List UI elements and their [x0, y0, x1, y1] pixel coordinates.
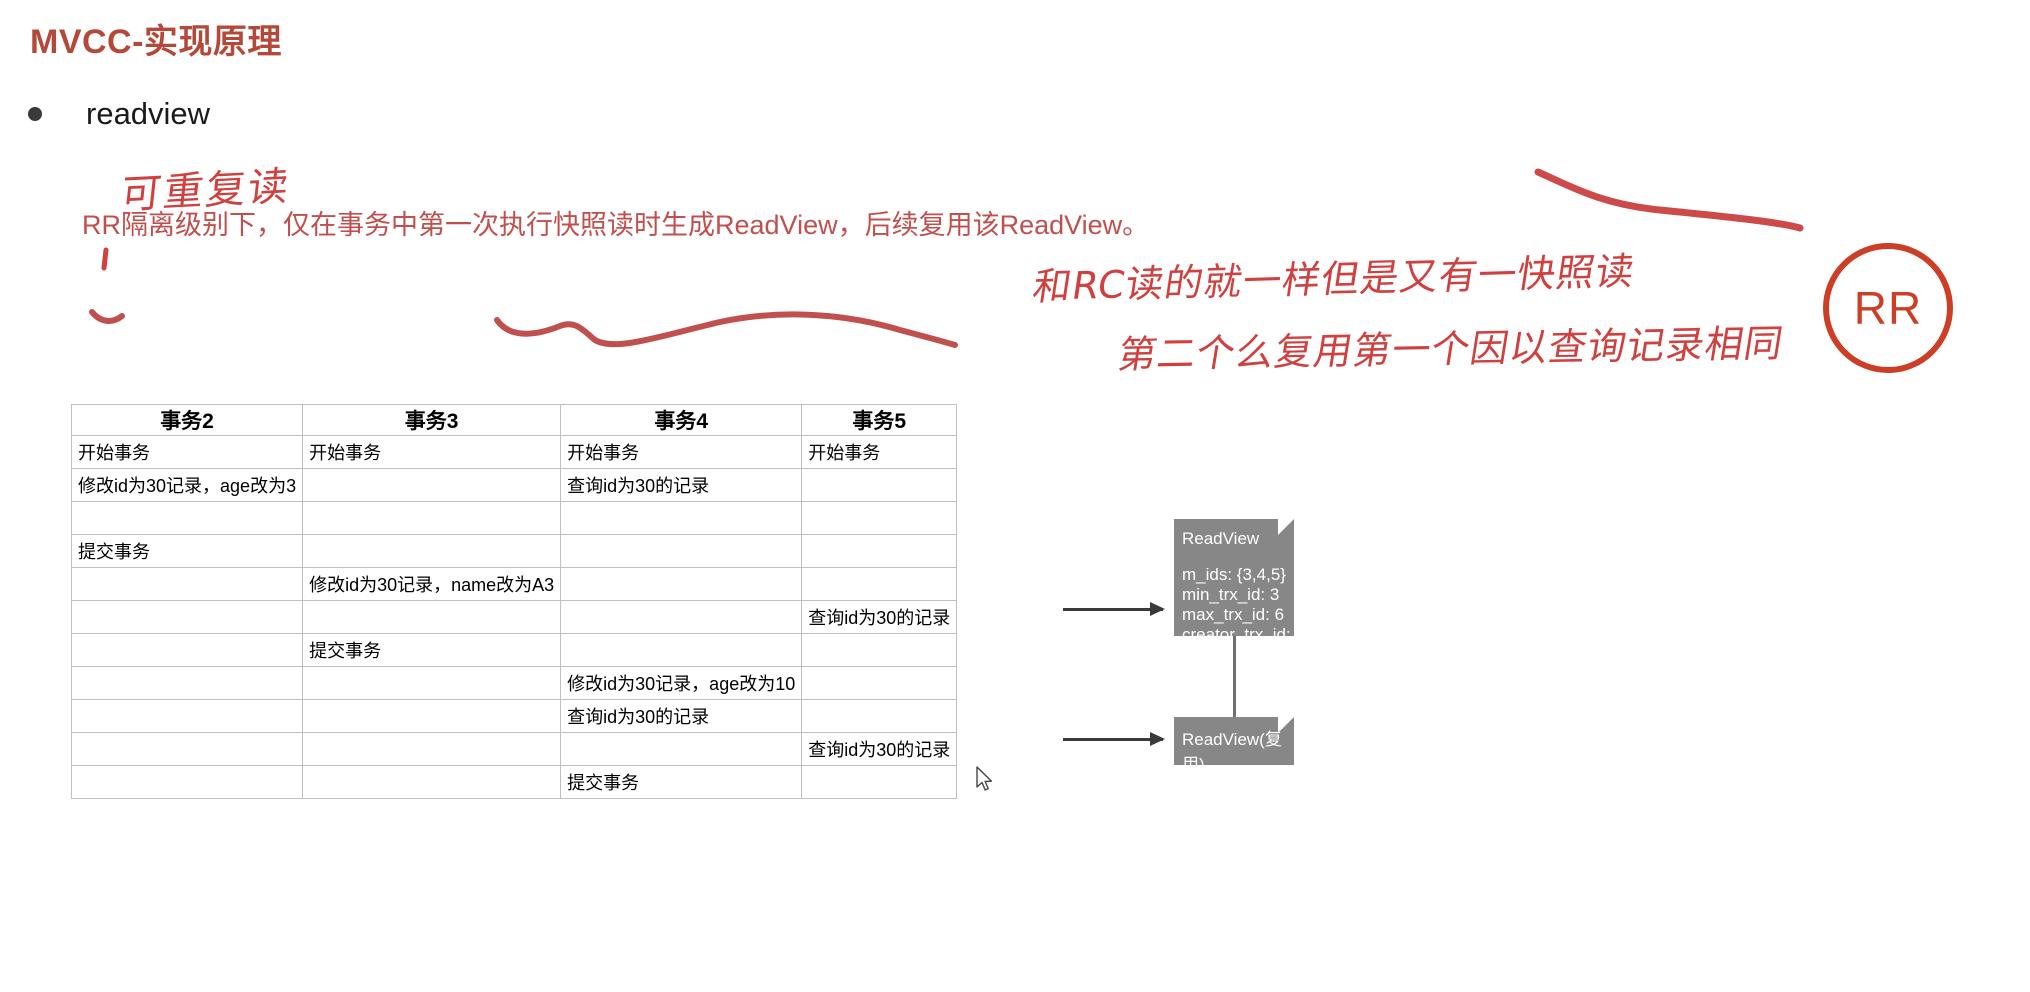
table-row — [72, 502, 957, 535]
table-cell — [72, 700, 303, 733]
table-cell — [303, 733, 561, 766]
table-cell — [802, 568, 957, 601]
table-cell: 提交事务 — [72, 535, 303, 568]
table-row: 查询id为30的记录 — [72, 601, 957, 634]
table-cell — [303, 667, 561, 700]
table-cell — [303, 535, 561, 568]
readview-m-ids: m_ids: {3,4,5} — [1182, 565, 1294, 585]
table-cell — [72, 766, 303, 799]
table-cell — [802, 700, 957, 733]
table-cell: 修改id为30记录，age改为10 — [561, 667, 802, 700]
table-cell — [303, 700, 561, 733]
table-row: 提交事务 — [72, 634, 957, 667]
table-row: 修改id为30记录，name改为A3 — [72, 568, 957, 601]
table-cell: 开始事务 — [72, 436, 303, 469]
table-cell — [303, 601, 561, 634]
rr-stamp-circle: RR — [1823, 243, 1953, 373]
table-row: 开始事务 开始事务 开始事务 开始事务 — [72, 436, 957, 469]
bullet-row: readview — [28, 96, 210, 132]
table-cell — [802, 667, 957, 700]
table-cell — [72, 733, 303, 766]
table-row: 提交事务 — [72, 766, 957, 799]
table-cell — [561, 634, 802, 667]
rr-stamp-label: RR — [1854, 281, 1922, 335]
table-header-cell: 事务5 — [802, 405, 957, 436]
ink-stroke-tick — [104, 250, 106, 268]
table-header-row: 事务2 事务3 事务4 事务5 — [72, 405, 957, 436]
table-cell — [72, 568, 303, 601]
table-cell — [561, 502, 802, 535]
table-header-cell: 事务2 — [72, 405, 303, 436]
readview-connector-line — [1233, 636, 1236, 717]
ink-stroke-hook-left — [92, 312, 122, 321]
readview-max-trx-id: max_trx_id: 6 — [1182, 605, 1294, 625]
readview-min-trx-id: min_trx_id: 3 — [1182, 585, 1294, 605]
table-row: 查询id为30的记录 — [72, 733, 957, 766]
readview-note-box: ReadView m_ids: {3,4,5} min_trx_id: 3 ma… — [1174, 519, 1294, 636]
table-row: 修改id为30记录，age改为10 — [72, 667, 957, 700]
table-header-cell: 事务4 — [561, 405, 802, 436]
bullet-dot-icon — [28, 107, 42, 121]
readview-reuse-note-box: ReadView(复用) — [1174, 717, 1294, 765]
handwriting-note-line-2: 第二个么复用第一个因以查询记录相同 — [1115, 312, 1789, 379]
table-cell — [561, 733, 802, 766]
table-header-cell: 事务3 — [303, 405, 561, 436]
mouse-cursor-icon — [976, 766, 994, 792]
table-cell: 查询id为30的记录 — [802, 733, 957, 766]
table-cell — [802, 634, 957, 667]
table-cell — [802, 535, 957, 568]
transaction-timeline-table: 事务2 事务3 事务4 事务5 开始事务 开始事务 开始事务 开始事务 修改id… — [71, 404, 957, 799]
readview-creator-trx-id: creator_trx_id: 5 — [1182, 625, 1294, 665]
handwriting-isolation-level: 可重复读 — [118, 154, 293, 221]
table-cell: 查询id为30的记录 — [561, 469, 802, 502]
table-cell: 开始事务 — [561, 436, 802, 469]
table-cell: 开始事务 — [802, 436, 957, 469]
table-cell — [303, 502, 561, 535]
table-cell — [72, 634, 303, 667]
ink-stroke-top-right — [1538, 172, 1800, 228]
table-cell: 查询id为30的记录 — [802, 601, 957, 634]
table-row: 修改id为30记录，age改为3 查询id为30的记录 — [72, 469, 957, 502]
table-row: 提交事务 — [72, 535, 957, 568]
table-cell — [802, 502, 957, 535]
table-cell — [72, 601, 303, 634]
table-cell: 提交事务 — [303, 634, 561, 667]
ink-stroke-underline — [497, 314, 955, 345]
table-cell — [802, 766, 957, 799]
arrow-to-readview-reuse-icon — [1063, 738, 1163, 741]
page-title: MVCC-实现原理 — [30, 14, 282, 63]
table-cell: 提交事务 — [561, 766, 802, 799]
table-row: 查询id为30的记录 — [72, 700, 957, 733]
bullet-label: readview — [86, 96, 210, 132]
table-cell — [561, 601, 802, 634]
table-cell — [303, 766, 561, 799]
readview-title: ReadView — [1182, 529, 1294, 549]
table-cell: 修改id为30记录，age改为3 — [72, 469, 303, 502]
table-cell — [72, 667, 303, 700]
table-cell: 开始事务 — [303, 436, 561, 469]
table-cell — [802, 469, 957, 502]
arrow-to-readview-icon — [1063, 608, 1163, 611]
table-cell — [561, 535, 802, 568]
handwriting-note-line-1: 和RC读的就一样但是又有一快照读 — [1030, 240, 1640, 311]
readview-reuse-title: ReadView(复用) — [1182, 730, 1282, 774]
table-cell — [561, 568, 802, 601]
table-cell: 修改id为30记录，name改为A3 — [303, 568, 561, 601]
table-cell — [72, 502, 303, 535]
table-cell — [303, 469, 561, 502]
table-cell: 查询id为30的记录 — [561, 700, 802, 733]
